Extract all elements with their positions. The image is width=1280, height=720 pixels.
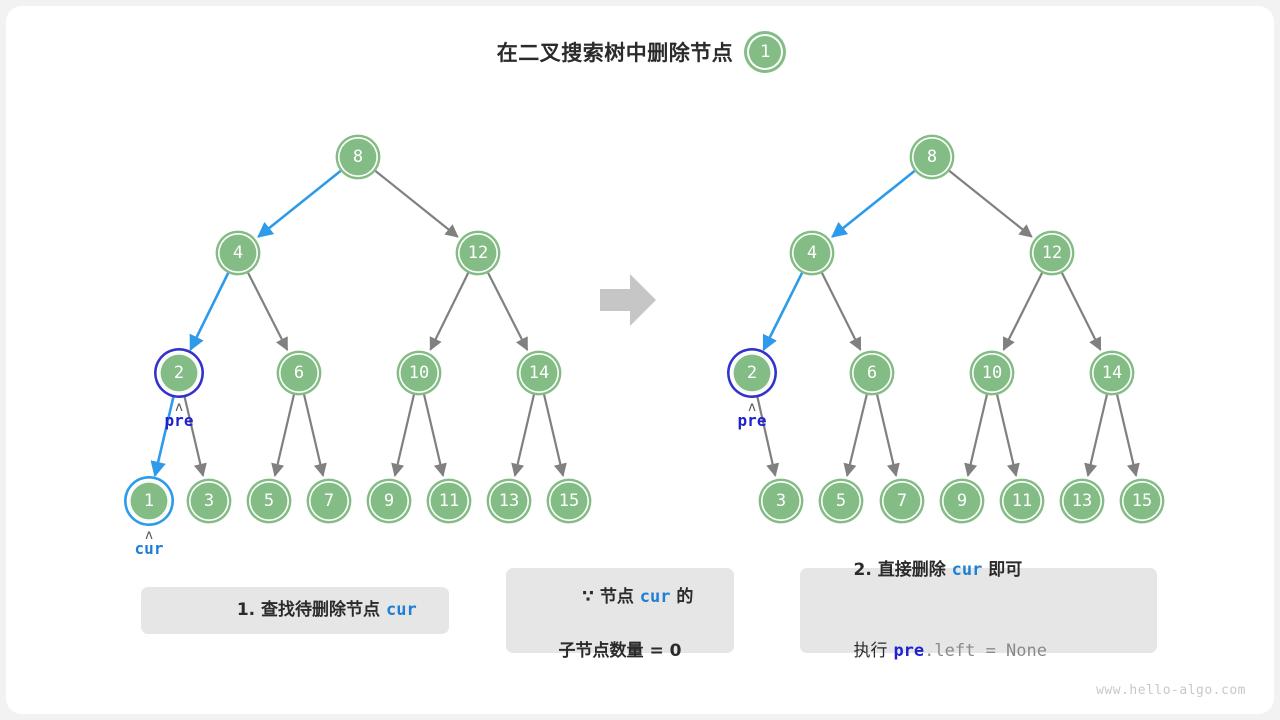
tree-node-10[interactable]: 10 <box>399 353 439 393</box>
caption-reason-line-2: 子节点数量 = 0 <box>559 638 682 665</box>
tree-node-3[interactable]: 3 <box>189 481 229 521</box>
pointer-label-text: pre <box>738 412 767 430</box>
tree-node-4[interactable]: 4 <box>218 233 258 273</box>
tree-node-8[interactable]: 8 <box>912 137 952 177</box>
caption-step-2-line-2: 执行 pre.left = None <box>818 611 1157 692</box>
caption-step-1-line: 1. 查找待删除节点 cur <box>173 570 416 651</box>
tree-node-9[interactable]: 9 <box>369 481 409 521</box>
tree-node-11[interactable]: 11 <box>1002 481 1042 521</box>
tree-node-2[interactable]: 2 <box>732 353 772 393</box>
caption-step-2-var-pre: pre <box>893 641 924 661</box>
caption-step-2-line-1-pre: 2. 直接删除 <box>854 560 946 580</box>
tree-node-8[interactable]: 8 <box>338 137 378 177</box>
caption-step-2-line-1-post: 即可 <box>988 560 1022 580</box>
caption-reason: ∵ 节点 cur 的 子节点数量 = 0 <box>506 568 734 653</box>
tree-node-13[interactable]: 13 <box>489 481 529 521</box>
tree-node-11[interactable]: 11 <box>429 481 469 521</box>
tree-node-6[interactable]: 6 <box>279 353 319 393</box>
tree-node-15[interactable]: 15 <box>549 481 589 521</box>
caption-reason-var: cur <box>640 587 671 607</box>
page-title-text: 在二叉搜索树中删除节点 <box>497 37 734 67</box>
caption-step-2: 2. 直接删除 cur 即可 执行 pre.left = None <box>800 568 1157 653</box>
tree-node-14[interactable]: 14 <box>519 353 559 393</box>
page-title: 在二叉搜索树中删除节点 1 <box>0 34 1280 70</box>
pointer-pre-right: ʌpre <box>738 403 767 430</box>
pointer-cur-left: ʌcur <box>135 531 164 558</box>
tree-node-15[interactable]: 15 <box>1122 481 1162 521</box>
tree-node-12[interactable]: 12 <box>1032 233 1072 273</box>
pointer-pre-left: ʌpre <box>165 403 194 430</box>
caption-step-2-line-2-post: .left = None <box>924 641 1047 661</box>
step-badge: 1 <box>747 34 783 70</box>
caption-reason-line-1-pre: ∵ 节点 <box>582 587 634 607</box>
pointer-label-text: pre <box>165 412 194 430</box>
caption-step-2-line-2-pre: 执行 <box>854 641 888 661</box>
tree-node-7[interactable]: 7 <box>309 481 349 521</box>
tree-node-13[interactable]: 13 <box>1062 481 1102 521</box>
tree-node-10[interactable]: 10 <box>972 353 1012 393</box>
tree-node-2[interactable]: 2 <box>159 353 199 393</box>
tree-node-6[interactable]: 6 <box>852 353 892 393</box>
caption-step-2-var-cur: cur <box>952 560 983 580</box>
tree-node-7[interactable]: 7 <box>882 481 922 521</box>
caption-reason-line-1-post: 的 <box>676 587 693 607</box>
tree-node-5[interactable]: 5 <box>249 481 289 521</box>
tree-node-5[interactable]: 5 <box>821 481 861 521</box>
diagram-canvas: 在二叉搜索树中删除节点 1 84122610141357911131584122… <box>0 0 1280 720</box>
tree-node-9[interactable]: 9 <box>942 481 982 521</box>
tree-node-14[interactable]: 14 <box>1092 353 1132 393</box>
tree-node-1[interactable]: 1 <box>129 481 169 521</box>
caption-step-1: 1. 查找待删除节点 cur <box>141 587 449 634</box>
tree-node-4[interactable]: 4 <box>792 233 832 273</box>
caption-step-2-line-1: 2. 直接删除 cur 即可 <box>818 530 1157 611</box>
tree-node-12[interactable]: 12 <box>458 233 498 273</box>
caption-step-1-text: 1. 查找待删除节点 <box>237 600 380 620</box>
caption-reason-line-1: ∵ 节点 cur 的 <box>547 557 694 638</box>
pointer-label-text: cur <box>135 540 164 558</box>
tree-node-3[interactable]: 3 <box>761 481 801 521</box>
caption-step-1-var: cur <box>386 600 417 620</box>
